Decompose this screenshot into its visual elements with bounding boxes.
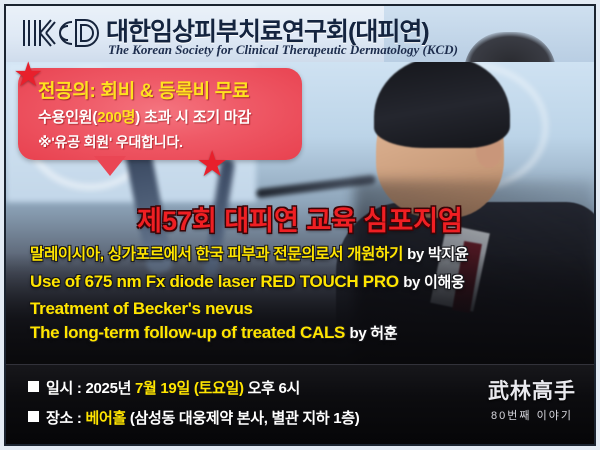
- lecture-speaker: by 이해웅: [403, 274, 464, 291]
- notice-bubble: 전공의: 회비 & 등록비 무료 수용인원(200명) 초과 시 조기 마감 ※…: [18, 68, 302, 160]
- notice-line-2-post: ) 초과 시 조기 마감: [135, 109, 251, 126]
- kcd-logo-icon: [20, 16, 100, 50]
- date-year: 2025년: [85, 380, 135, 397]
- lecture-topic: 말레이시아, 싱가포르에서 한국 피부과 전문의로서 개원하기: [30, 246, 403, 263]
- event-date-row: 일시 : 2025년 7월 19일 (토요일) 오후 6시: [28, 377, 300, 398]
- notice-bubble-tail: [94, 156, 126, 176]
- lecture-item: Use of 675 nm Fx diode laser RED TOUCH P…: [30, 271, 590, 292]
- venue-label: 장소 :: [46, 410, 85, 427]
- lecture-topic: Use of 675 nm Fx diode laser RED TOUCH P…: [30, 272, 399, 291]
- lecture-speaker: by 허훈: [350, 325, 398, 342]
- lecture-item: The long-term follow-up of treated CALS …: [30, 322, 590, 343]
- lecture-item: Treatment of Becker's nevus: [30, 299, 590, 319]
- event-venue-row: 장소 : 베어홀 (삼성동 대웅제약 본사, 별관 지하 1층): [28, 407, 359, 428]
- star-icon-bottom-right: ★: [196, 146, 228, 182]
- lecture-topic: Treatment of Becker's nevus: [30, 299, 253, 318]
- notice-line-1: 전공의: 회비 & 등록비 무료: [38, 76, 249, 103]
- society-name-en: The Korean Society for Clinical Therapeu…: [108, 42, 458, 58]
- venue-highlight: 베어홀: [85, 410, 126, 427]
- watermark-subtitle: 80번째 이야기: [488, 407, 576, 423]
- lecture-speaker: by 박지윤: [407, 246, 468, 263]
- notice-line-3: ※'유공 회원' 우대합니다.: [38, 132, 183, 152]
- venue-address: (삼성동 대웅제약 본사, 별관 지하 1층): [126, 410, 360, 427]
- date-highlight: 7월 19일 (토요일): [135, 380, 244, 397]
- lecture-list: 말레이시아, 싱가포르에서 한국 피부과 전문의로서 개원하기 by 박지윤 U…: [30, 242, 590, 350]
- page-title: 제57회 대피연 교육 심포지엄: [6, 199, 594, 238]
- date-label: 일시 :: [46, 380, 85, 397]
- photo-person-hair: [374, 62, 510, 148]
- details-bar: 일시 : 2025년 7월 19일 (토요일) 오후 6시 장소 : 베어홀 (…: [6, 364, 594, 444]
- notice-line-2-pre: 수용인원(: [38, 109, 97, 126]
- poster-header: 대한임상피부치료연구회(대피연) The Korean Society for …: [6, 6, 594, 62]
- lecture-topic: The long-term follow-up of treated CALS: [30, 323, 345, 342]
- watermark: 武林高手 80번째 이야기: [488, 375, 576, 423]
- notice-line-2: 수용인원(200명) 초과 시 조기 마감: [38, 106, 251, 127]
- lecture-item: 말레이시아, 싱가포르에서 한국 피부과 전문의로서 개원하기 by 박지윤: [30, 242, 590, 264]
- watermark-title: 武林高手: [488, 375, 576, 405]
- symposium-poster: 대한임상피부치료연구회(대피연) The Korean Society for …: [0, 0, 600, 450]
- date-time: 오후 6시: [244, 380, 300, 397]
- notice-capacity-highlight: 200명: [97, 109, 135, 126]
- bullet-square-icon: [28, 411, 39, 422]
- bullet-square-icon: [28, 381, 39, 392]
- poster-frame: 대한임상피부치료연구회(대피연) The Korean Society for …: [4, 4, 596, 446]
- star-icon-top-left: ★: [13, 58, 43, 92]
